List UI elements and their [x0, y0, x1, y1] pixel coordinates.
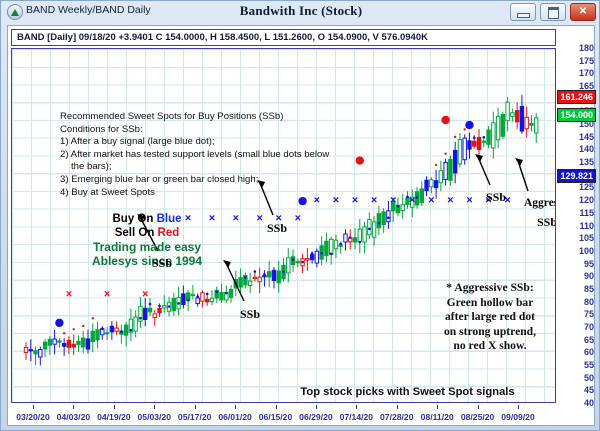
annotation-label: Aggressive: [524, 197, 556, 209]
price-axis-tick: 50: [584, 373, 594, 383]
aggressive-note-line-1: * Aggressive SSb:: [410, 281, 556, 296]
price-axis[interactable]: 1801751701651601551501451401351301251201…: [558, 48, 596, 403]
price-axis-tick: 75: [584, 309, 594, 319]
candle-body: [368, 220, 371, 235]
stop-dot-blue: [225, 292, 228, 295]
promo-line-1: Top stock picks with Sweet Spot signals: [270, 385, 545, 400]
candle-body: [96, 330, 99, 340]
date-axis-tick: 06/15/20: [259, 412, 292, 422]
annotation-label: SSb: [240, 307, 260, 322]
window-controls: [510, 3, 596, 20]
stop-dot-blue: [273, 276, 276, 279]
stop-dot-red: [444, 153, 446, 155]
price-axis-tick: 105: [579, 233, 594, 243]
candle-body: [477, 137, 480, 149]
condition-item-2b: the bars);: [60, 161, 329, 174]
stop-dot-blue: [139, 317, 142, 320]
candle-body: [43, 342, 46, 349]
candle-body: [267, 272, 270, 277]
stop-dot-blue: [101, 327, 104, 330]
date-axis-tick: 03/20/20: [16, 412, 49, 422]
stop-dot-red: [454, 136, 456, 138]
stop-dot-blue: [311, 252, 314, 255]
candle-body: [458, 140, 461, 164]
stop-dot-blue: [168, 305, 171, 308]
stop-dot-blue: [320, 252, 323, 255]
slogan-buy-color: Blue: [157, 213, 182, 225]
price-axis-tick: 45: [584, 385, 594, 395]
aggressive-note-line-4: on strong uptrend,: [410, 325, 556, 340]
price-axis-tick: 60: [584, 347, 594, 357]
candle-body: [34, 351, 37, 354]
aggressive-note-block: * Aggressive SSb: Green hollow bar after…: [410, 281, 556, 354]
date-axis-tick: 04/19/20: [97, 412, 130, 422]
candle-body: [191, 294, 194, 295]
price-axis-tick: 140: [579, 144, 594, 154]
candle-body: [382, 212, 385, 225]
stop-dot-blue: [215, 290, 218, 293]
candle-body: [148, 308, 151, 312]
candle-body: [210, 298, 213, 301]
candle-body: [105, 333, 108, 334]
aggressive-note-line-5: no red X show.: [410, 339, 556, 354]
x-marker-red: ×: [142, 289, 148, 301]
buy-signal-dot: [465, 121, 473, 129]
x-marker-blue: ×: [233, 212, 239, 224]
candle-body: [206, 299, 209, 302]
slogan-line-3: Trading made easy: [62, 240, 232, 254]
chart-panel: BAND [Daily] 09/18/20 +3.9401 C 154.0000…: [7, 25, 595, 426]
candle-body: [91, 331, 94, 341]
quote-info-bar: BAND [Daily] 09/18/20 +3.9401 C 154.0000…: [11, 29, 556, 46]
candle-body: [444, 163, 447, 180]
candle-body: [363, 227, 366, 242]
stop-dot-red: [92, 317, 94, 319]
x-marker-red: ×: [66, 289, 72, 301]
x-marker-blue: ×: [409, 194, 415, 206]
candle-body: [58, 341, 61, 342]
condition-item-1: 1) After a buy signal (large blue dot);: [60, 136, 329, 149]
price-axis-tick: 40: [584, 398, 594, 408]
candle-body: [339, 245, 342, 246]
date-axis-tick: 06/01/20: [218, 412, 251, 422]
slogan-buy-text: Buy On: [112, 213, 156, 225]
candle-body: [124, 325, 127, 335]
candle-body: [24, 347, 27, 352]
candle-body: [515, 111, 518, 122]
condition-item-4: 4) Buy at Sweet Spots: [60, 187, 329, 200]
candle-body: [296, 262, 299, 263]
x-marker-blue: ×: [333, 194, 339, 206]
candle-body: [163, 306, 166, 308]
price-axis-tick: 95: [584, 259, 594, 269]
stop-dot-blue: [416, 196, 419, 199]
slogan-sell-color: Red: [158, 227, 180, 239]
candle-body: [506, 102, 509, 121]
stop-dot-red: [82, 325, 84, 327]
date-axis-tick-mark: [478, 405, 479, 409]
candle-body: [272, 270, 275, 280]
aggressive-note-line-3: after large red dot: [410, 310, 556, 325]
annotation-label: SSb: [152, 256, 172, 271]
stop-dot-blue: [482, 136, 485, 139]
candle-body: [535, 118, 538, 133]
slogan-line-4: Ablesys since 1994: [62, 254, 232, 268]
stop-dot-red: [72, 328, 74, 330]
candle-body: [434, 181, 437, 188]
date-axis-tick-mark: [33, 405, 34, 409]
candle-body: [86, 339, 89, 349]
slogan-sell-line: Sell On Red: [62, 226, 232, 240]
candle-body: [387, 211, 390, 222]
condition-item-2: 2) After market has tested support level…: [60, 149, 329, 162]
price-axis-tick: 80: [584, 297, 594, 307]
stop-dot-blue: [378, 222, 381, 225]
stop-dot-blue: [339, 243, 342, 246]
stop-dot-blue: [368, 228, 371, 231]
date-axis-tick-mark: [114, 405, 115, 409]
candle-body: [520, 106, 523, 131]
candle-body: [229, 290, 232, 298]
x-marker-blue: ×: [352, 194, 358, 206]
stop-dot-red: [464, 128, 466, 130]
date-axis-tick: 07/14/20: [340, 412, 373, 422]
date-axis-tick-mark: [276, 405, 277, 409]
x-marker-blue: ×: [371, 194, 377, 206]
price-axis-tick: 175: [579, 56, 594, 66]
stop-dot-blue: [111, 328, 114, 331]
stop-dot-blue: [244, 276, 247, 279]
stop-dot-red: [435, 164, 437, 166]
candle-body: [325, 241, 328, 255]
maximize-button[interactable]: [540, 3, 566, 21]
candle-body: [77, 341, 80, 344]
slogan-sell-text: Sell On: [115, 227, 158, 239]
chart-window: BAND Weekly/BAND Daily Bandwith Inc (Sto…: [0, 0, 600, 431]
candle-body: [158, 308, 161, 312]
date-axis-tick-mark: [518, 405, 519, 409]
promo-block: Top stock picks with Sweet Spot signals …: [270, 385, 545, 403]
candle-body: [72, 344, 75, 347]
price-axis-tick: 110: [579, 221, 594, 231]
candle-body: [67, 340, 70, 347]
stop-dot-blue: [397, 205, 400, 208]
candle-body: [329, 239, 332, 254]
x-marker-blue: ×: [390, 194, 396, 206]
price-axis-tick: 120: [579, 195, 594, 205]
price-axis-tick: 125: [579, 182, 594, 192]
stop-dot-blue: [254, 270, 257, 273]
price-plot-area[interactable]: ×××××××××××××××××××× Recommended Sweet S…: [11, 48, 556, 403]
date-axis-tick: 08/11/20: [421, 412, 454, 422]
x-marker-blue: ×: [466, 194, 472, 206]
candle-body: [511, 113, 514, 117]
candle-body: [482, 141, 485, 142]
stop-dot-blue: [425, 185, 428, 188]
candle-body: [487, 130, 490, 144]
stop-dot-blue: [196, 295, 199, 298]
price-axis-tick: 55: [584, 360, 594, 370]
x-marker-blue: ×: [256, 212, 262, 224]
close-button[interactable]: [570, 3, 596, 21]
candle-body: [377, 214, 380, 228]
candle-body: [501, 115, 504, 137]
date-axis-tick: 06/29/20: [299, 412, 332, 422]
price-axis-tick: 135: [579, 157, 594, 167]
x-marker-blue: ×: [447, 194, 453, 206]
date-axis-tick-mark: [397, 405, 398, 409]
candle-body: [39, 350, 42, 357]
sell-signal-dot: [356, 156, 364, 164]
candle-body: [115, 328, 118, 331]
stop-dot-blue: [301, 261, 304, 264]
candle-body: [492, 123, 495, 148]
candle-body: [53, 339, 56, 344]
annotation-label: SSb *: [537, 215, 556, 230]
candle-body: [196, 298, 199, 304]
candle-body: [310, 255, 313, 260]
candle-body: [48, 339, 51, 345]
x-marker-blue: ×: [428, 194, 434, 206]
stop-dot-blue: [387, 216, 390, 219]
candle-body: [153, 314, 156, 318]
price-axis-tick: 65: [584, 335, 594, 345]
stop-dot-blue: [187, 299, 190, 302]
date-axis-tick-mark: [154, 405, 155, 409]
date-axis-tick: 04/03/20: [57, 412, 90, 422]
candle-body: [253, 277, 256, 278]
candle-body: [258, 277, 261, 282]
candle-body: [453, 150, 456, 173]
candle-body: [134, 317, 137, 331]
price-axis-tick: 85: [584, 284, 594, 294]
candle-body: [29, 350, 32, 351]
price-axis-tick: 170: [579, 68, 594, 78]
date-axis-tick-mark: [316, 405, 317, 409]
candle-body: [463, 138, 466, 160]
stop-dot-blue: [263, 273, 266, 276]
candle-body: [172, 298, 175, 310]
date-axis-tick-mark: [356, 405, 357, 409]
candle-body: [372, 222, 375, 237]
price-axis-tick: 90: [584, 271, 594, 281]
candle-body: [62, 343, 65, 346]
title-bar: BAND Weekly/BAND Daily Bandwith Inc (Sto…: [1, 1, 600, 22]
price-tag-support: 129.821: [557, 169, 596, 183]
candle-body: [473, 141, 476, 146]
buy-signal-dot: [55, 319, 63, 327]
candle-body: [439, 171, 442, 183]
date-axis-tick: 07/28/20: [380, 412, 413, 422]
conditions-block: Recommended Sweet Spots for Buy Position…: [60, 111, 329, 199]
candle-body: [353, 238, 356, 242]
candle-body: [182, 294, 185, 305]
candle-body: [144, 308, 147, 319]
price-axis-tick: 145: [579, 132, 594, 142]
date-axis-tick: 05/17/20: [178, 412, 211, 422]
candle-body: [82, 338, 85, 347]
stop-dot-blue: [177, 302, 180, 305]
candle-body: [239, 278, 242, 287]
stop-dot-blue: [473, 136, 476, 139]
candle-body: [358, 229, 361, 242]
stop-dot-blue: [282, 270, 285, 273]
annotation-label: SSb: [486, 190, 506, 205]
candle-body: [525, 117, 528, 128]
price-tag-close: 154.000: [557, 108, 596, 122]
date-axis-tick: 08/25/20: [461, 412, 494, 422]
price-axis-tick: 115: [579, 208, 594, 218]
promo-line-2: Intelligent risk control stops: [270, 400, 545, 403]
candle-body: [334, 240, 337, 249]
date-axis-tick-mark: [73, 405, 74, 409]
date-axis[interactable]: 03/20/2004/03/2004/19/2005/03/2005/17/20…: [11, 405, 556, 425]
candle-body: [530, 123, 533, 125]
x-marker-red: ×: [104, 289, 110, 301]
candle-body: [201, 293, 204, 301]
conditions-heading: Recommended Sweet Spots for Buy Position…: [60, 111, 329, 124]
date-axis-tick-mark: [195, 405, 196, 409]
price-axis-tick: 70: [584, 322, 594, 332]
stop-dot-blue: [158, 305, 161, 308]
slogan-block: Buy On Blue Sell On Red Trading made eas…: [62, 212, 232, 268]
minimize-button[interactable]: [510, 3, 536, 21]
stop-dot-blue: [130, 329, 133, 332]
date-axis-tick-mark: [235, 405, 236, 409]
candle-body: [430, 180, 433, 187]
stop-dot-blue: [292, 258, 295, 261]
slogan-buy-line: Buy On Blue: [62, 212, 232, 226]
sell-signal-dot: [441, 116, 449, 124]
x-marker-blue: ×: [295, 212, 301, 224]
condition-item-3: 3) Emerging blue bar or green bar closed…: [60, 174, 329, 187]
candle-body: [248, 281, 251, 285]
stop-dot-blue: [206, 293, 209, 296]
stop-dot-red: [63, 332, 65, 334]
candle-body: [344, 234, 347, 242]
stop-dot-blue: [358, 241, 361, 244]
price-tag-stop: 161.246: [557, 90, 596, 104]
candle-body: [449, 159, 452, 180]
price-axis-tick: 100: [579, 246, 594, 256]
annotation-label: SSb: [267, 221, 287, 236]
candle-body: [277, 271, 280, 283]
date-axis-tick: 09/09/20: [501, 412, 534, 422]
candle-body: [468, 141, 471, 149]
candle-body: [306, 259, 309, 261]
candle-body: [496, 116, 499, 139]
date-axis-tick-mark: [437, 405, 438, 409]
date-axis-tick: 05/03/20: [138, 412, 171, 422]
aggressive-note-line-2: Green hollow bar: [410, 296, 556, 311]
stop-dot-blue: [120, 330, 123, 333]
candle-body: [420, 189, 423, 203]
stop-dot-blue: [349, 236, 352, 239]
stop-dot-blue: [149, 303, 152, 306]
stop-dot-blue: [330, 252, 333, 255]
candle-body: [401, 205, 404, 211]
candle-body: [220, 292, 223, 300]
price-axis-tick: 180: [579, 43, 594, 53]
candle-body: [315, 251, 318, 263]
conditions-subheading: Conditions for SSb:: [60, 124, 329, 137]
candle-body: [287, 258, 290, 273]
